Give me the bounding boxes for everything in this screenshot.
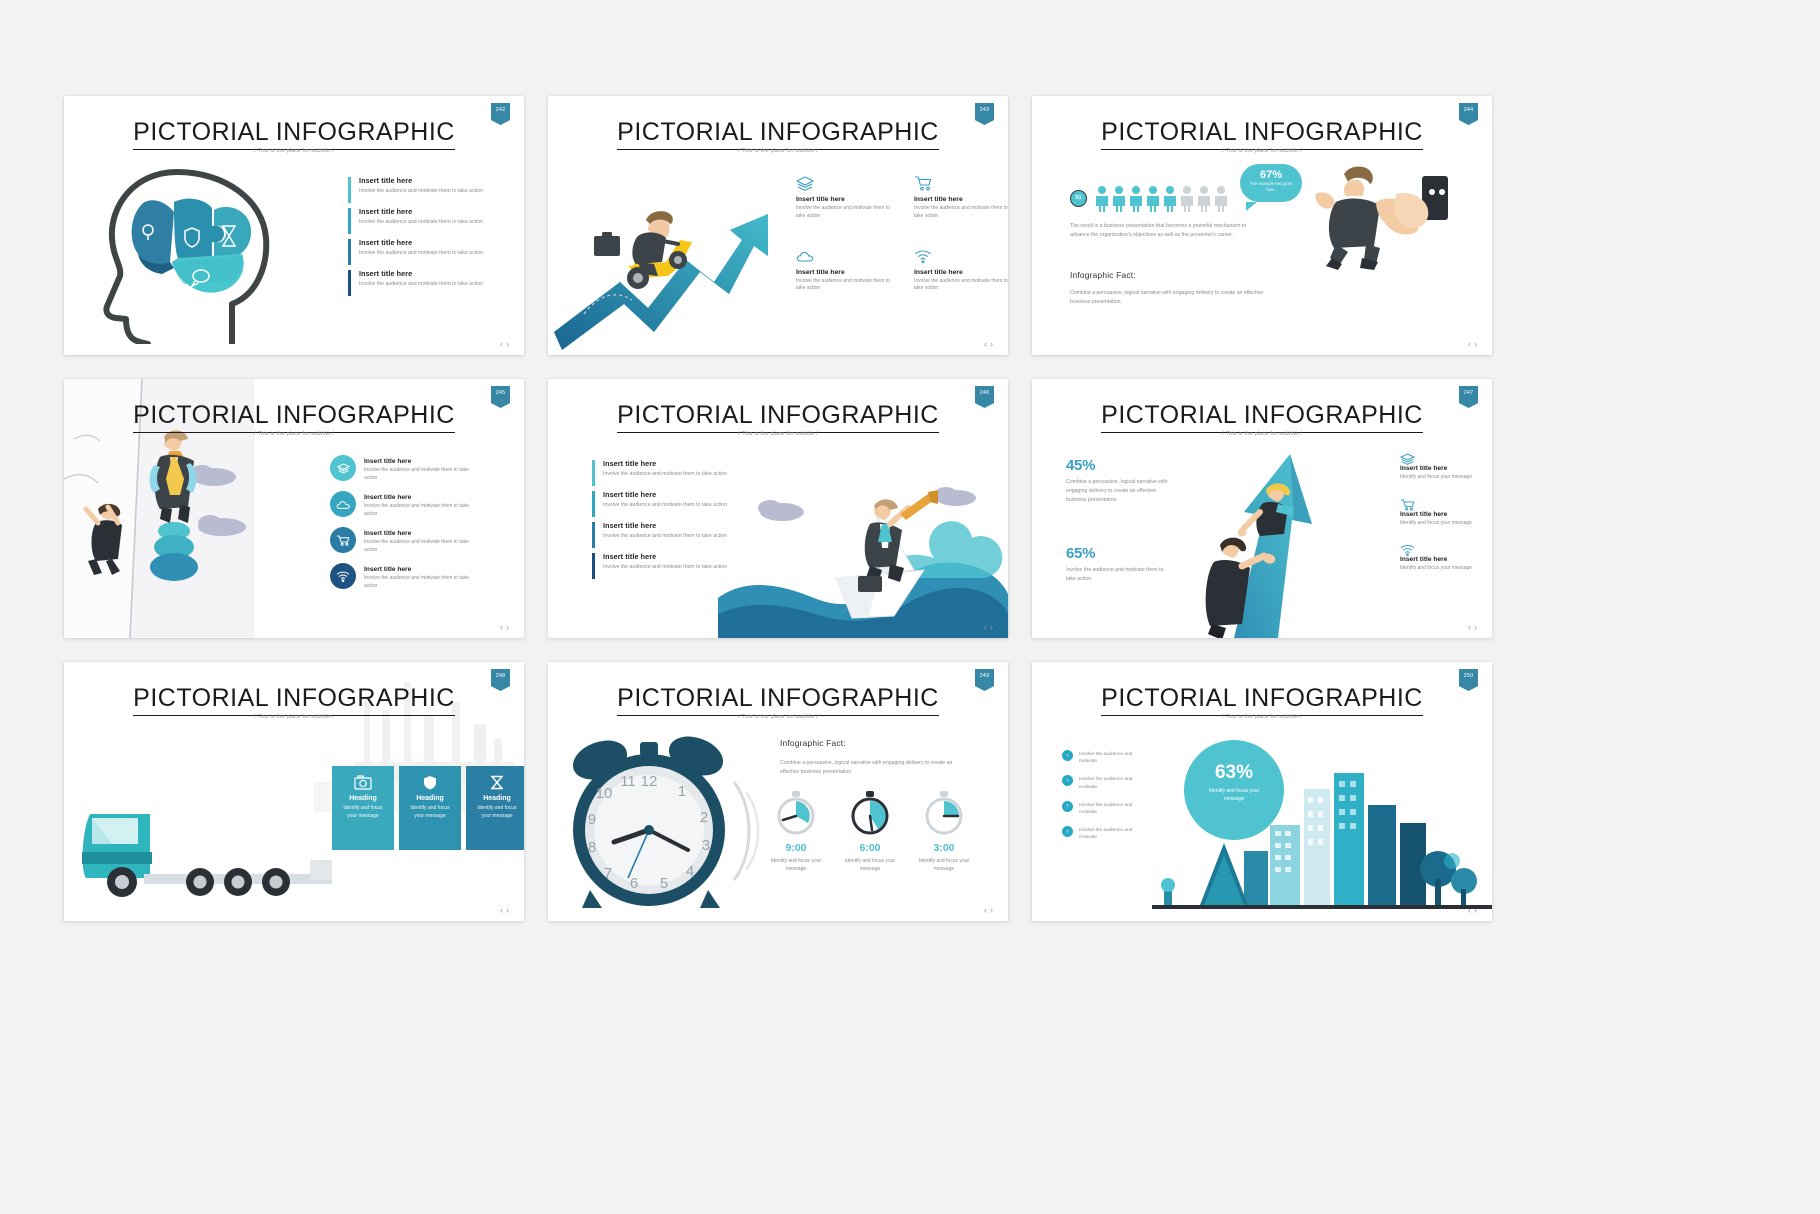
page-subtitle: / This is the place for subtitle /	[1032, 714, 1492, 720]
slide-thumbnail-people[interactable]: 244 PICTORIAL INFOGRAPHIC / This is the …	[1032, 96, 1492, 355]
list-item-desc: Involve the audience and motivate	[1079, 826, 1149, 841]
list-item-title: Insert title here	[359, 269, 487, 278]
icon-circle	[330, 527, 356, 553]
timer-desc: Identify and focus your message	[912, 857, 976, 873]
svg-text:4: 4	[686, 863, 694, 880]
stopwatch-icon-quarter	[922, 790, 966, 836]
list-item-desc: Involve the audience and motivate	[1079, 750, 1149, 765]
icon-circle	[330, 455, 356, 481]
page-title: PICTORIAL INFOGRAPHIC	[64, 401, 524, 430]
wifi-icon	[336, 571, 350, 582]
list-item-desc: Identify and focus your message	[1400, 565, 1478, 573]
brain-illustration	[82, 154, 332, 344]
list-item-desc: Involve the audience and motivate them t…	[364, 467, 479, 482]
icon-cell-desc: Involve the audience and motivate them t…	[914, 205, 1008, 221]
list-item-title: Insert title here	[364, 458, 479, 465]
wifi-icon	[914, 249, 932, 264]
cart-icon	[336, 535, 350, 546]
list-item[interactable]: › Involve the audience and motivate	[1062, 801, 1149, 816]
city-skyline-illustration	[1152, 765, 1492, 915]
list-item[interactable]: Insert title here Involve the audience a…	[348, 238, 487, 257]
truck-illustration	[82, 778, 332, 903]
bubble-value: 67%	[1240, 169, 1302, 181]
slide-thumbnail-clock[interactable]: 249 PICTORIAL INFOGRAPHIC / This is the …	[548, 662, 1008, 921]
svg-text:3: 3	[702, 837, 710, 854]
icon-cell-desc: Involve the audience and motivate them t…	[796, 205, 891, 221]
list-item-title: Insert title here	[364, 530, 479, 537]
icon-circle	[330, 563, 356, 589]
list-item-title: Insert title here	[364, 494, 479, 501]
nav-next[interactable]: ›	[990, 339, 996, 349]
layers-icon	[796, 176, 814, 191]
svg-text:1: 1	[678, 783, 686, 800]
page-subtitle: / This is the place for subtitle /	[548, 431, 1008, 437]
slide-thumbnail-scooter[interactable]: 243 PICTORIAL INFOGRAPHIC / This is the …	[548, 96, 1008, 355]
bullet-list: › Involve the audience and motivate › In…	[1062, 750, 1149, 852]
icon-cell[interactable]: Insert title here Involve the audience a…	[914, 176, 1008, 221]
info-card[interactable]: Heading Identify and focus your message	[466, 766, 524, 850]
stat-desc: Involve the audience and motivate them t…	[1066, 566, 1170, 584]
list-item[interactable]: Insert title here Involve the audience a…	[592, 552, 731, 571]
nav-next[interactable]: ›	[1474, 339, 1480, 349]
slide-thumbnail-brain[interactable]: 242 PICTORIAL INFOGRAPHIC / This is the …	[64, 96, 524, 355]
list-item-title: Insert title here	[603, 490, 731, 499]
icon-cell[interactable]: Insert title here Involve the audience a…	[796, 249, 904, 294]
list-item-desc: Involve the audience and motivate	[1079, 801, 1149, 816]
icon-mini-list: Insert title here Identify and focus you…	[1400, 453, 1478, 590]
nav-next[interactable]: ›	[506, 339, 512, 349]
icon-cell-title: Insert title here	[914, 269, 1008, 276]
page-subtitle: / This is the place for subtitle /	[548, 714, 1008, 720]
svg-text:11: 11	[620, 773, 636, 790]
list-item-desc: Involve the audience and motivate them t…	[603, 563, 731, 571]
page-title: PICTORIAL INFOGRAPHIC	[64, 684, 524, 713]
circle-icon-list: Insert title here Involve the audience a…	[330, 455, 479, 599]
page-subtitle: / This is the place for subtitle /	[1032, 431, 1492, 437]
svg-text:6: 6	[630, 875, 638, 892]
chevron-right-icon: ›	[1062, 801, 1073, 812]
list-item[interactable]: Insert title here Involve the audience a…	[348, 176, 487, 195]
list-item[interactable]: Insert title here Involve the audience a…	[348, 269, 487, 288]
list-item-desc: Identify and focus your message	[1400, 520, 1478, 528]
camera-icon	[354, 775, 372, 790]
list-item-desc: Involve the audience and motivate them t…	[364, 503, 479, 518]
step-badge: 01	[1070, 190, 1087, 207]
callout-bubble: 67% The example text goes here.	[1240, 164, 1302, 204]
nav-next[interactable]: ›	[1474, 622, 1480, 632]
people-row: 01	[1070, 184, 1245, 212]
stat-desc: Combine a persuasive, logical narrative …	[1066, 478, 1170, 505]
list-item[interactable]: › Involve the audience and motivate	[1062, 826, 1149, 841]
stat-value: 65%	[1066, 545, 1170, 562]
icon-cell[interactable]: Insert title here Involve the audience a…	[796, 176, 904, 221]
bubble-desc: The example text goes here.	[1240, 181, 1302, 193]
page-title: PICTORIAL INFOGRAPHIC	[548, 118, 1008, 147]
svg-text:10: 10	[596, 785, 613, 802]
hourglass-icon	[489, 775, 505, 790]
cart-icon	[914, 176, 932, 191]
icon-cell[interactable]: Insert title here Involve the audience a…	[914, 249, 1008, 294]
page-title: PICTORIAL INFOGRAPHIC	[1032, 684, 1492, 713]
card-heading: Heading	[473, 795, 521, 802]
slide-thumbnail-truck[interactable]: 248 PICTORIAL INFOGRAPHIC / This is the …	[64, 662, 524, 921]
timer-value: 9:00	[764, 842, 828, 854]
stat-value: 45%	[1066, 457, 1170, 474]
list-item-title: Insert title here	[1400, 511, 1478, 518]
svg-text:5: 5	[660, 875, 668, 892]
fact-heading: Infographic Fact:	[780, 738, 846, 748]
slide-nav[interactable]: ‹›	[984, 339, 996, 349]
icon-cell-title: Insert title here	[796, 269, 904, 276]
card-row: Heading Identify and focus your message …	[332, 766, 524, 850]
timer-desc: Identify and focus your message	[838, 857, 902, 873]
list-item-title: Insert title here	[359, 207, 487, 216]
stopwatch-icon-light	[774, 790, 818, 836]
timer-block[interactable]: 3:00 Identify and focus your message	[912, 790, 976, 873]
chevron-right-icon: ›	[1062, 826, 1073, 837]
list-item[interactable]: Insert title here Involve the audience a…	[330, 563, 479, 590]
page-subtitle: / This is the place for subtitle /	[64, 714, 524, 720]
chevron-right-icon: ›	[1062, 750, 1073, 761]
stat-block: 65% Involve the audience and motivate th…	[1066, 545, 1170, 584]
list-item[interactable]: Insert title here Involve the audience a…	[592, 521, 731, 540]
list-item[interactable]: Insert title here Involve the audience a…	[348, 207, 487, 226]
arrow-team-illustration	[1182, 448, 1362, 638]
nav-next[interactable]: ›	[506, 905, 512, 915]
list-item[interactable]: Insert title here Involve the audience a…	[592, 459, 731, 478]
timer-row: 9:00 Identify and focus your message 6:0…	[764, 790, 976, 873]
list-item-desc: Involve the audience and motivate them t…	[603, 532, 731, 540]
nav-next[interactable]: ›	[1474, 905, 1480, 915]
slide-nav[interactable]: ‹›	[1468, 339, 1480, 349]
list-item-title: Insert title here	[359, 238, 487, 247]
list-item[interactable]: Insert title here Involve the audience a…	[592, 490, 731, 509]
timer-block[interactable]: 6:00 Identify and focus your message	[838, 790, 902, 873]
list-item-title: Insert title here	[1400, 556, 1478, 563]
slide-nav[interactable]: ‹›	[984, 905, 996, 915]
list-item-title: Insert title here	[603, 459, 731, 468]
info-card[interactable]: Heading Identify and focus your message	[399, 766, 461, 850]
list-item-desc: Involve the audience and motivate them t…	[359, 280, 487, 288]
slide-nav[interactable]: ‹›	[500, 339, 512, 349]
list-item-desc: Involve the audience and motivate them t…	[603, 501, 731, 509]
list-item-desc: Involve the audience and motivate them t…	[364, 575, 479, 590]
list-item[interactable]: Insert title here Involve the audience a…	[330, 455, 479, 482]
timer-value: 6:00	[838, 842, 902, 854]
hand-pointing-illustration	[1300, 140, 1450, 280]
timer-desc: Identify and focus your message	[764, 857, 828, 873]
list-item-title: Insert title here	[359, 176, 487, 185]
list-item[interactable]: › Involve the audience and motivate	[1062, 750, 1149, 765]
icon-circle	[330, 491, 356, 517]
svg-text:8: 8	[588, 839, 596, 856]
cloud-icon	[796, 249, 814, 264]
icon-cell-title: Insert title here	[796, 196, 904, 203]
slide-thumbnail-climber[interactable]: 245	[64, 379, 524, 638]
cloud-icon	[336, 499, 350, 510]
wifi-icon	[1400, 544, 1415, 556]
card-desc: Identify and focus your message	[406, 805, 454, 821]
people-icons	[1095, 184, 1245, 212]
shield-icon	[423, 775, 437, 790]
list-item[interactable]: Insert title here Involve the audience a…	[330, 527, 479, 554]
fact-desc: Combine a persuasive, logical narrative …	[1070, 289, 1266, 307]
svg-text:9: 9	[588, 811, 596, 828]
list-item[interactable]: Insert title here Identify and focus you…	[1400, 453, 1478, 482]
slide-thumbnail-city[interactable]: 250 PICTORIAL INFOGRAPHIC / This is the …	[1032, 662, 1492, 921]
nav-next[interactable]: ›	[990, 622, 996, 632]
card-heading: Heading	[339, 795, 387, 802]
list-item-desc: Involve the audience and motivate them t…	[359, 218, 487, 226]
layers-icon	[337, 463, 350, 474]
timer-value: 3:00	[912, 842, 976, 854]
timer-block[interactable]: 9:00 Identify and focus your message	[764, 790, 828, 873]
list-item-desc: Identify and focus your message	[1400, 474, 1478, 482]
slide-grid: 242 PICTORIAL INFOGRAPHIC / This is the …	[64, 96, 1544, 921]
slide-nav[interactable]: ‹›	[1468, 905, 1480, 915]
nav-next[interactable]: ›	[506, 622, 512, 632]
list-item[interactable]: Insert title here Involve the audience a…	[330, 491, 479, 518]
page-title: PICTORIAL INFOGRAPHIC	[64, 118, 524, 147]
list-item-desc: Involve the audience and motivate them t…	[359, 187, 487, 195]
list-item-title: Insert title here	[603, 521, 731, 530]
list-item-title: Insert title here	[364, 566, 479, 573]
card-desc: Identify and focus your message	[339, 805, 387, 821]
nav-next[interactable]: ›	[990, 905, 996, 915]
cart-icon	[1400, 499, 1415, 511]
paper-boat-wave-illustration	[718, 458, 1008, 638]
body-paragraph: The result is a business presentation th…	[1070, 222, 1266, 240]
svg-text:2: 2	[700, 809, 708, 826]
stat-block: 45% Combine a persuasive, logical narrat…	[1066, 457, 1170, 505]
icon-cell-title: Insert title here	[914, 196, 1008, 203]
svg-text:12: 12	[641, 773, 658, 790]
page-title: PICTORIAL INFOGRAPHIC	[548, 401, 1008, 430]
slide-thumbnail-paper-boat[interactable]: 246 PICTORIAL INFOGRAPHIC / This is the …	[548, 379, 1008, 638]
icon-cell-desc: Involve the audience and motivate them t…	[796, 278, 891, 294]
fact-heading: Infographic Fact:	[1070, 270, 1136, 280]
list-item-desc: Involve the audience and motivate them t…	[359, 249, 487, 257]
scooter-arrow-illustration	[554, 154, 784, 354]
svg-text:7: 7	[604, 865, 612, 882]
list-item-title: Insert title here	[1400, 465, 1478, 472]
list-item[interactable]: › Involve the audience and motivate	[1062, 775, 1149, 790]
fact-desc: Combine a persuasive, logical narrative …	[780, 759, 972, 777]
page-subtitle: / This is the place for subtitle /	[64, 431, 524, 437]
page-title: PICTORIAL INFOGRAPHIC	[1032, 401, 1492, 430]
page-title: PICTORIAL INFOGRAPHIC	[548, 684, 1008, 713]
slide-nav[interactable]: ‹›	[984, 622, 996, 632]
card-heading: Heading	[406, 795, 454, 802]
info-card[interactable]: Heading Identify and focus your message	[332, 766, 394, 850]
list-item-title: Insert title here	[603, 552, 731, 561]
list-item[interactable]: Insert title here Identify and focus you…	[1400, 544, 1478, 573]
bullet-list: Insert title here Involve the audience a…	[348, 176, 487, 300]
slide-nav[interactable]: ‹›	[500, 622, 512, 632]
alarm-clock-illustration: 1212 345 678 91011	[556, 726, 771, 916]
layers-icon	[1400, 453, 1415, 465]
list-item-desc: Involve the audience and motivate them t…	[603, 470, 731, 478]
list-item-desc: Involve the audience and motivate them t…	[364, 539, 479, 554]
slide-thumbnail-teamwork[interactable]: 247 PICTORIAL INFOGRAPHIC / This is the …	[1032, 379, 1492, 638]
card-desc: Identify and focus your message	[473, 805, 521, 821]
bullet-list: Insert title here Involve the audience a…	[592, 459, 731, 583]
slide-nav[interactable]: ‹›	[500, 905, 512, 915]
icon-cell-desc: Involve the audience and motivate them t…	[914, 278, 1008, 294]
chevron-right-icon: ›	[1062, 775, 1073, 786]
list-item[interactable]: Insert title here Identify and focus you…	[1400, 499, 1478, 528]
slide-nav[interactable]: ‹›	[1468, 622, 1480, 632]
icon-grid: Insert title here Involve the audience a…	[796, 176, 1008, 293]
stopwatch-icon-dark	[848, 790, 892, 836]
list-item-desc: Involve the audience and motivate	[1079, 775, 1149, 790]
